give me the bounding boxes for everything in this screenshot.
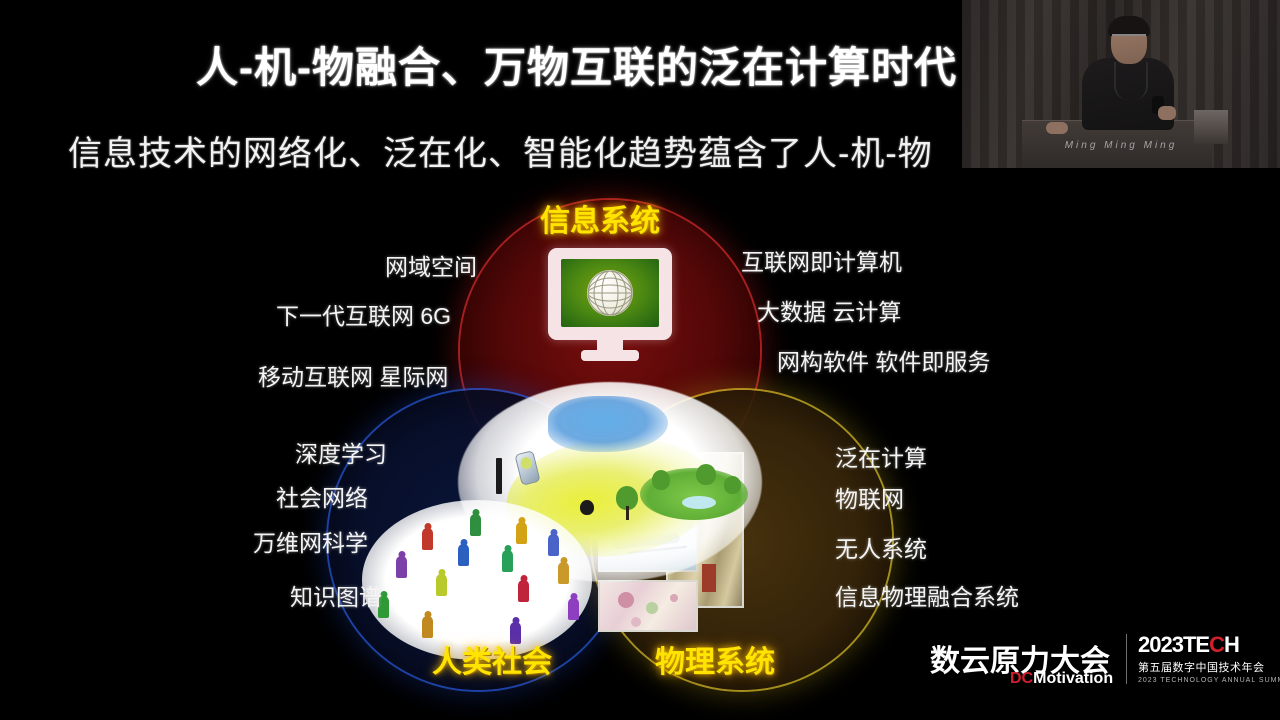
tree-trunk [626, 506, 629, 520]
lanyard [1114, 62, 1148, 100]
person-icon [436, 574, 447, 596]
tree-icon [696, 464, 716, 485]
keyword-label: 网域空间 [385, 248, 477, 282]
keyword-label: 深度学习 [295, 435, 387, 469]
overlap-pole [496, 458, 502, 494]
logo-tech-before: TE [1183, 632, 1209, 657]
photo-tile-microscopy [598, 580, 698, 632]
keyword-label: 万维网科学 [253, 524, 368, 558]
social-network-disc [362, 500, 592, 660]
monitor-frame [548, 248, 672, 340]
pip-side-screen [1194, 110, 1228, 144]
person-icon [470, 514, 481, 536]
keyword-label: 无人系统 [835, 530, 927, 564]
logo-divider [1126, 634, 1127, 684]
keyword-label: 下一代互联网 6G [276, 297, 451, 331]
slide-subtitle: 信息技术的网络化、泛在化、智能化趋势蕴含了人-机-物 [68, 126, 933, 175]
keyword-label: 物联网 [835, 480, 904, 514]
person-icon [396, 556, 407, 578]
logo-tech-accent: C [1209, 632, 1224, 657]
keyword-label: 信息物理融合系统 [835, 578, 1019, 612]
caption-human-society: 人类社会 [432, 637, 552, 681]
keyword-label: 知识图谱 [290, 578, 382, 612]
logo-year-tech: 2023TECH [1138, 632, 1258, 658]
person-icon [458, 544, 469, 566]
logo-subtitle-cn: 第五届数字中国技术年会 [1138, 659, 1258, 675]
tree-icon [580, 500, 594, 515]
monitor-base [581, 350, 639, 361]
speaker-hand-left [1046, 122, 1068, 134]
slide-canvas: 人-机-物融合、万物互联的泛在计算时代 信息技术的网络化、泛在化、智能化趋势蕴含… [0, 0, 1280, 720]
keyword-label: 社会网络 [276, 479, 368, 513]
person-icon [568, 598, 579, 620]
person-icon [422, 528, 433, 550]
pip-caption-text: Ming Ming Ming [962, 140, 1280, 151]
keyword-label: 大数据 云计算 [757, 293, 901, 327]
keyword-label: 网构软件 软件即服务 [777, 343, 990, 377]
logo-english-name: DCMotivation [1010, 670, 1113, 688]
person-icon [518, 580, 529, 602]
caption-physical-system: 物理系统 [655, 637, 775, 681]
person-icon [422, 616, 433, 638]
person-icon [548, 534, 559, 556]
caption-information-system: 信息系统 [540, 196, 660, 240]
computer-monitor-icon [548, 248, 672, 360]
tree-icon [652, 470, 670, 490]
logo-summit-block: 2023TECH 第五届数字中国技术年会 2023 TECHNOLOGY ANN… [1138, 632, 1258, 684]
speaker-video-overlay[interactable]: Ming Ming Ming [962, 0, 1280, 178]
logo-tech-after: H [1224, 632, 1239, 657]
person-icon [502, 550, 513, 572]
keyword-label: 移动互联网 星际网 [258, 358, 448, 392]
person-icon [558, 562, 569, 584]
speaker-hair [1108, 16, 1150, 36]
monitor-screen [561, 259, 659, 327]
person-icon [516, 522, 527, 544]
keyword-label: 泛在计算 [835, 439, 927, 473]
logo-motivation-text: Motivation [1033, 670, 1113, 687]
speaker-hand-right [1158, 106, 1176, 120]
logo-subtitle-en: 2023 TECHNOLOGY ANNUAL SUMMIT [1138, 677, 1258, 684]
logo-year-text: 2023 [1138, 632, 1183, 657]
slide-title: 人-机-物融合、万物互联的泛在计算时代 [196, 34, 957, 95]
tree-icon [724, 476, 741, 494]
globe-icon [587, 270, 633, 316]
glasses-icon [1112, 34, 1146, 44]
keyword-label: 互联网即计算机 [741, 243, 902, 277]
pip-letterbox [962, 168, 1280, 178]
event-logo: 数云原力大会 DCMotivation 2023TECH 第五届数字中国技术年会… [930, 630, 1260, 692]
logo-dc-text: DC [1010, 670, 1033, 687]
overlap-pond [682, 496, 716, 509]
